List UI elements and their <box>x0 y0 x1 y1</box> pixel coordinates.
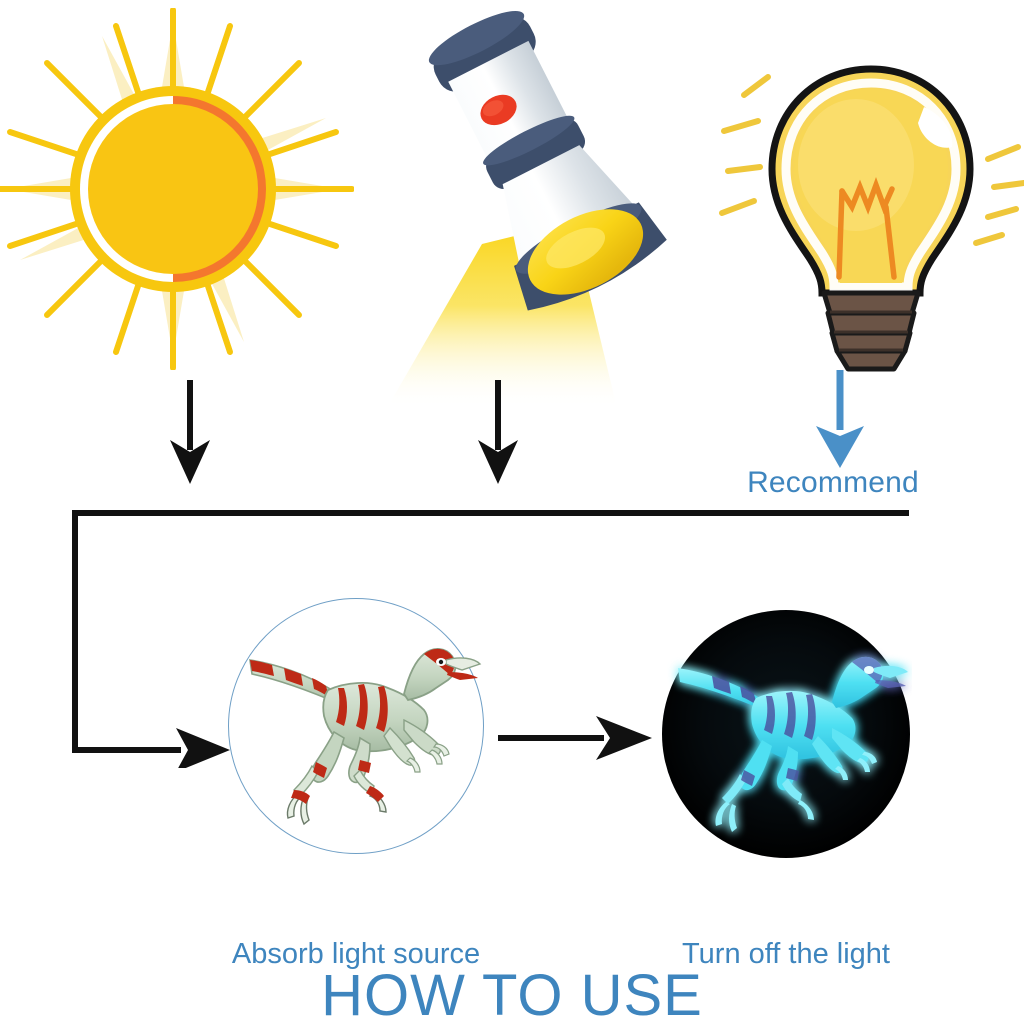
light-bulb-icon <box>706 55 1024 375</box>
page-title: HOW TO USE <box>0 962 1024 1029</box>
flashlight-icon <box>372 8 692 408</box>
dinosaur-glowing-icon <box>660 608 912 860</box>
arrow-right-icon <box>496 708 656 768</box>
how-to-use-infographic: Recommend <box>0 0 1024 1032</box>
sun-icon <box>0 8 354 370</box>
recommend-label: Recommend <box>718 466 948 500</box>
arrow-down-sun-icon <box>150 378 230 488</box>
arrow-down-flashlight-icon <box>458 378 538 488</box>
dinosaur-normal-icon <box>228 598 484 854</box>
arrow-down-bulb-icon <box>800 368 880 473</box>
